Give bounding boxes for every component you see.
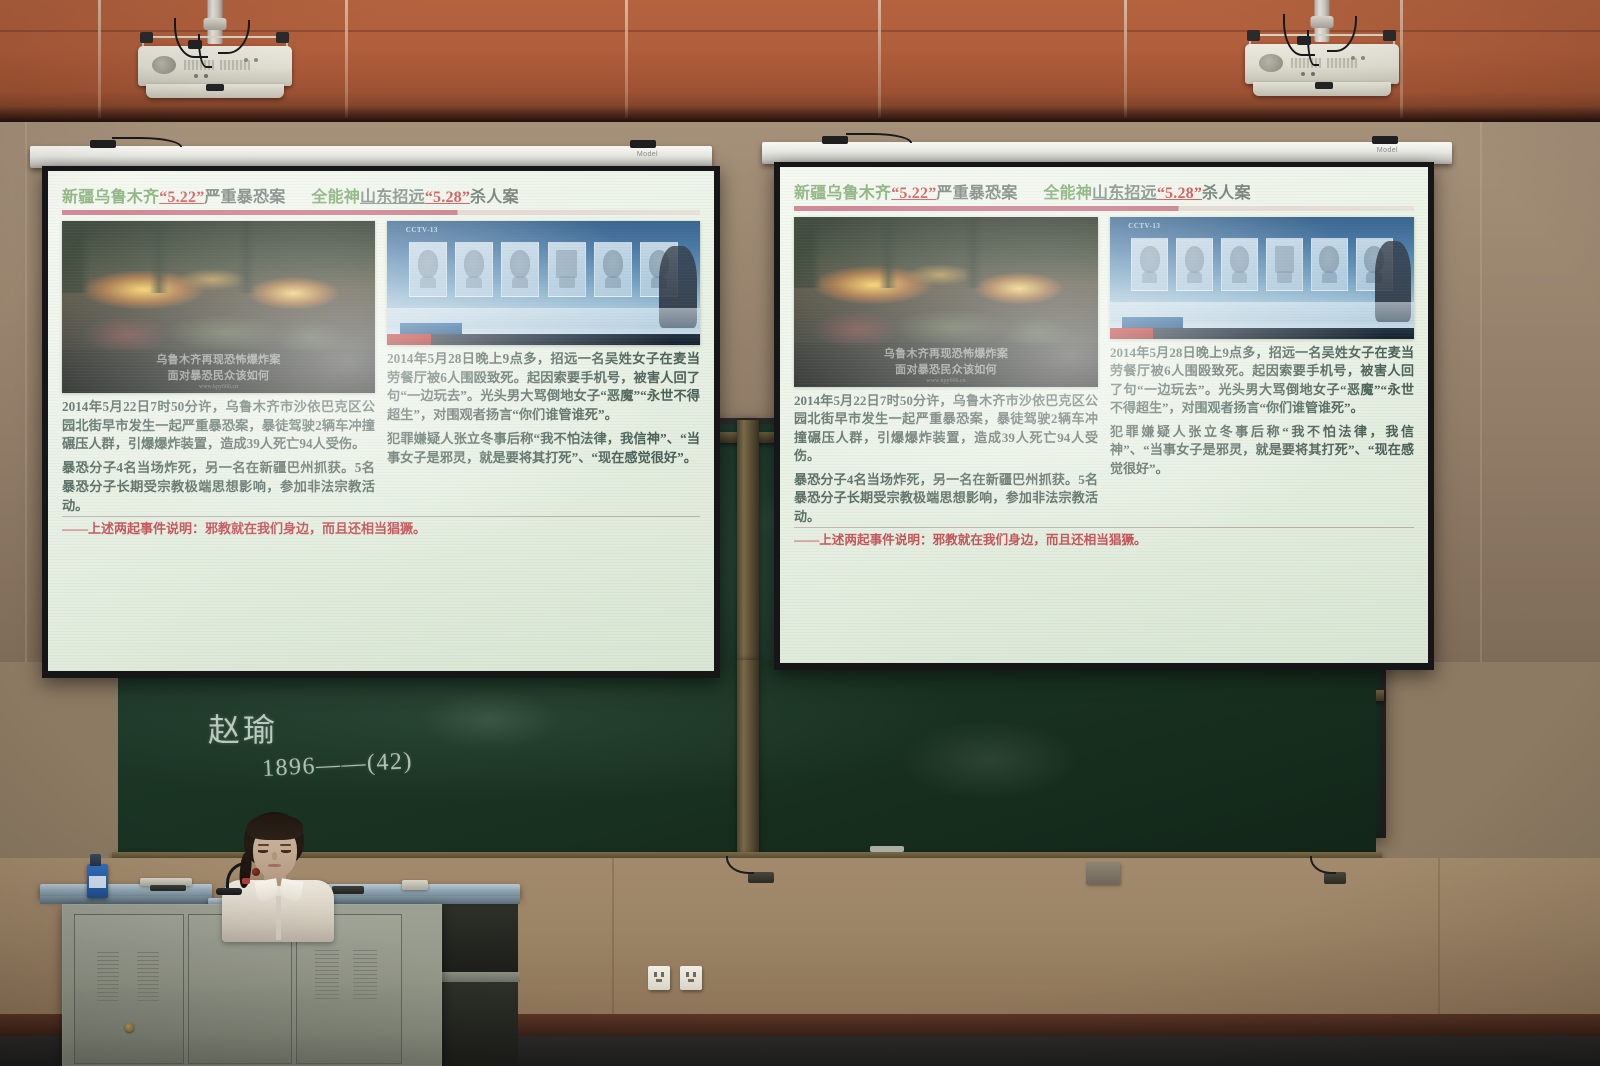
speaker-nose bbox=[272, 852, 277, 860]
podium-lock[interactable] bbox=[125, 1023, 134, 1032]
wall-mounted-box bbox=[1086, 862, 1120, 884]
slide-title-left: 新疆乌鲁木齐“5.22”严重暴恐案 bbox=[62, 183, 285, 207]
screen-roller-housing[interactable]: Model bbox=[762, 142, 1452, 164]
news-lower-third-banner bbox=[1122, 317, 1183, 328]
suspect-photo-strip bbox=[1131, 238, 1392, 292]
cctv-news-suspects-photo: CCTV-13 bbox=[387, 221, 700, 345]
ceiling-projector-left bbox=[132, 0, 298, 100]
slide-column-right: CCTV-13 bbox=[387, 221, 700, 515]
slide-body-left-faded: 暴恐分子4名当场炸死，另一名在新疆巴州抓获。5名暴恐分子长期受宗教极端思想影响，… bbox=[62, 459, 375, 515]
slide-title-left: 新疆乌鲁木齐“5.22”严重暴恐案 bbox=[794, 179, 1017, 203]
slide-columns: 乌鲁木齐再现恐怖爆炸案 面对暴恐民众该如何 www.kpy666.cn 2014… bbox=[62, 221, 700, 515]
speaker-hair-fringe bbox=[247, 814, 303, 840]
slide-body-right: 2014年5月28日晚上9点多，招远一名吴姓女子在麦当劳餐厅被6人围殴致死。起因… bbox=[1110, 344, 1414, 418]
projector-lens bbox=[1259, 54, 1283, 72]
cctv-channel-logo: CCTV-13 bbox=[1128, 222, 1160, 230]
slide-conclusion: ——上述两起事件说明：邪教就在我们身边，而且还相当猖獗。 bbox=[62, 516, 700, 537]
urumqi-explosion-photo: 乌鲁木齐再现恐怖爆炸案 面对暴恐民众该如何 www.kpy666.cn bbox=[794, 217, 1098, 387]
slide-title-bar: 新疆乌鲁木齐“5.22”严重暴恐案 全能神山东招远“5.28”杀人案 bbox=[794, 179, 1414, 203]
slide-content: 新疆乌鲁木齐“5.22”严重暴恐案 全能神山东招远“5.28”杀人案 bbox=[48, 171, 714, 671]
wall-socket-right[interactable] bbox=[680, 966, 702, 990]
suspect-photo-strip bbox=[409, 242, 678, 297]
ceiling-projector-right bbox=[1239, 0, 1405, 98]
chalk-writing-name: 赵瑜 bbox=[208, 705, 278, 751]
speaker-presenter bbox=[236, 812, 346, 944]
suspect-portrait bbox=[455, 242, 493, 297]
news-ticker-bar bbox=[1110, 328, 1414, 339]
screen-frame: 新疆乌鲁木齐“5.22”严重暴恐案 全能神山东招远“5.28”杀人案 bbox=[42, 166, 720, 678]
lecture-hall-scene: 赵瑜 1896——(42) Model 新疆乌鲁木齐“5.22”严重暴恐案 bbox=[0, 0, 1600, 1066]
slide-column-right: CCTV-13 bbox=[1110, 217, 1414, 526]
slide-divider-rule bbox=[794, 206, 1414, 211]
screen-roller-housing[interactable]: Model bbox=[30, 146, 712, 168]
slide-column-left: 乌鲁木齐再现恐怖爆炸案 面对暴恐民众该如何 www.kpy666.cn 2014… bbox=[62, 221, 375, 515]
microphone-base[interactable] bbox=[216, 888, 242, 895]
podium-door-left[interactable] bbox=[74, 914, 184, 1064]
screen-frame: 新疆乌鲁木齐“5.22”严重暴恐案 全能神山东招远“5.28”杀人案 bbox=[774, 162, 1434, 670]
slide-body-left-faded: 暴恐分子4名当场炸死，另一名在新疆巴州抓获。5名暴恐分子长期受宗教极端思想影响，… bbox=[794, 471, 1098, 526]
speaker-eye-right bbox=[281, 850, 291, 853]
blackboard-front-divider bbox=[737, 660, 759, 860]
bottle-cap bbox=[90, 854, 101, 866]
slide-body-left: 2014年5月22日7时50分许，乌鲁木齐市沙依巴克区公园北街早市发生一起严重暴… bbox=[62, 398, 375, 454]
cctv-channel-logo: CCTV-13 bbox=[406, 226, 438, 234]
slide-body-right: 2014年5月28日晚上9点多，招远一名吴姓女子在麦当劳餐厅被6人围殴致死。起因… bbox=[387, 350, 700, 425]
suspect-portrait bbox=[594, 242, 632, 297]
roller-bracket bbox=[822, 136, 848, 144]
cctv-news-suspects-photo: CCTV-13 bbox=[1110, 217, 1414, 339]
slide-divider-rule bbox=[62, 210, 700, 215]
suspect-portrait bbox=[1266, 238, 1303, 292]
microphone-head[interactable] bbox=[252, 868, 260, 876]
slide-body-left: 2014年5月22日7时50分许，乌鲁木齐市沙依巴克区公园北街早市发生一起严重暴… bbox=[794, 392, 1098, 466]
suspect-portrait bbox=[409, 242, 447, 297]
remote-control[interactable] bbox=[150, 885, 186, 891]
speaker-mouth bbox=[268, 864, 281, 867]
speaker-eye-left bbox=[258, 850, 268, 853]
roller-bracket bbox=[630, 140, 656, 148]
slide-title-right: 全能神山东招远“5.28”杀人案 bbox=[1043, 179, 1250, 203]
chalk-piece[interactable] bbox=[870, 846, 904, 852]
news-ticker-bar bbox=[387, 334, 700, 345]
slide-conclusion: ——上述两起事件说明：邪教就在我们身边，而且还相当猖獗。 bbox=[794, 527, 1414, 548]
wall-socket-left[interactable] bbox=[648, 966, 670, 990]
suspect-portrait bbox=[548, 242, 586, 297]
roller-brand-label: Model bbox=[1377, 147, 1398, 154]
suspect-portrait bbox=[1176, 238, 1213, 292]
suspect-portrait bbox=[1311, 238, 1348, 292]
bottle-label bbox=[89, 876, 106, 888]
speaker-shirt-placket bbox=[276, 896, 281, 940]
podium-open-shelf bbox=[438, 904, 518, 980]
photo-caption: 乌鲁木齐再现恐怖爆炸案 面对暴恐民众该如何 www.kpy666.cn bbox=[62, 349, 375, 393]
roller-bracket bbox=[1372, 136, 1398, 144]
small-device[interactable] bbox=[402, 880, 428, 890]
photo-caption: 乌鲁木齐再现恐怖爆炸案 面对暴恐民众该如何 www.kpy666.cn bbox=[794, 343, 1098, 387]
slide-content: 新疆乌鲁木齐“5.22”严重暴恐案 全能神山东招远“5.28”杀人案 bbox=[780, 167, 1428, 663]
slide-title-bar: 新疆乌鲁木齐“5.22”严重暴恐案 全能神山东招远“5.28”杀人案 bbox=[62, 183, 700, 207]
suspect-portrait bbox=[1221, 238, 1258, 292]
urumqi-explosion-photo: 乌鲁木齐再现恐怖爆炸案 面对暴恐民众该如何 www.kpy666.cn bbox=[62, 221, 375, 393]
slide-column-left: 乌鲁木齐再现恐怖爆炸案 面对暴恐民众该如何 www.kpy666.cn 2014… bbox=[794, 217, 1098, 526]
screen-surface[interactable]: 新疆乌鲁木齐“5.22”严重暴恐案 全能神山东招远“5.28”杀人案 bbox=[780, 167, 1428, 663]
slide-body-right-faded: 犯罪嫌疑人张立冬事后称“我不怕法律，我信神”、“当事女子是邪灵，就是要将其打死”… bbox=[1110, 423, 1414, 478]
news-lower-third-banner bbox=[400, 323, 463, 334]
suspect-portrait bbox=[501, 242, 539, 297]
roller-brand-label: Model bbox=[637, 151, 658, 158]
projector-lens bbox=[152, 56, 176, 74]
slide-columns: 乌鲁木齐再现恐怖爆炸案 面对暴恐民众该如何 www.kpy666.cn 2014… bbox=[794, 217, 1414, 526]
slide-body-right-faded: 犯罪嫌疑人张立冬事后称“我不怕法律，我信神”、“当事女子是邪灵，就是要将其打死”… bbox=[387, 430, 700, 467]
suspect-portrait bbox=[1131, 238, 1168, 292]
podium-shelf-board bbox=[438, 972, 520, 982]
screen-surface[interactable]: 新疆乌鲁木齐“5.22”严重暴恐案 全能神山东招远“5.28”杀人案 bbox=[48, 171, 714, 671]
slide-title-right: 全能神山东招远“5.28”杀人案 bbox=[311, 183, 518, 207]
